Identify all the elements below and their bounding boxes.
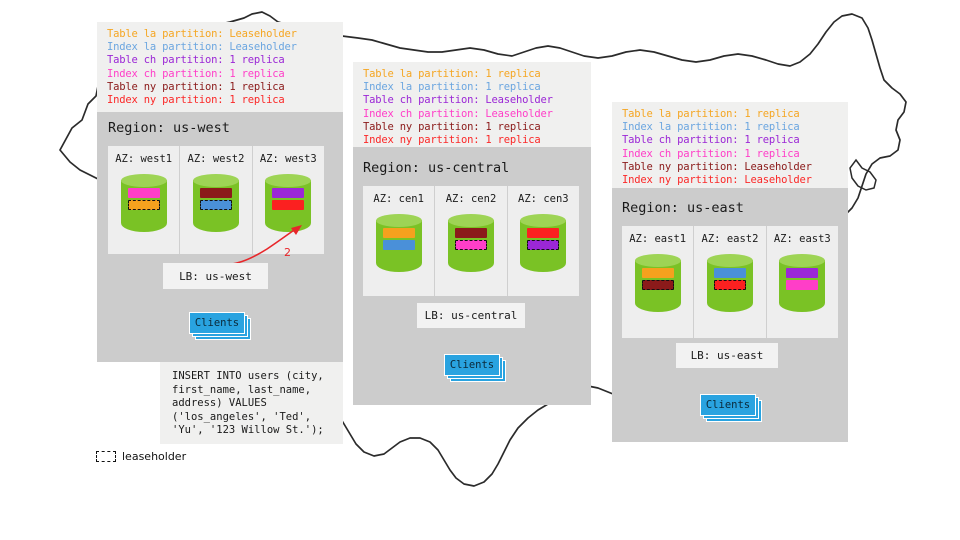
sql-line: ('los_angeles', 'Ted', <box>172 411 331 425</box>
replica-band <box>200 188 232 198</box>
clients-button-us-east[interactable]: Clients <box>700 394 756 416</box>
database-cylinder[interactable] <box>448 214 494 276</box>
az-cell-east3[interactable]: AZ: east3 <box>767 226 838 338</box>
load-balancer-us-east[interactable]: LB: us-east <box>676 343 778 368</box>
database-cylinder[interactable] <box>376 214 422 276</box>
az-label: AZ: cen1 <box>373 193 424 205</box>
az-label: AZ: east2 <box>702 233 759 245</box>
load-balancer-us-west[interactable]: LB: us-west <box>163 263 268 289</box>
legend-label: leaseholder <box>122 450 186 463</box>
header-line: Table ch partition: 1 replica <box>107 54 333 67</box>
replica-band <box>527 228 559 238</box>
cylinder-top <box>121 174 167 187</box>
header-line: Table ch partition: 1 replica <box>622 134 838 147</box>
sql-insert-note: INSERT INTO users (city, first_name, las… <box>160 362 343 444</box>
replica-band <box>128 200 160 210</box>
database-cylinder[interactable] <box>779 254 825 316</box>
header-line: Index ny partition: 1 replica <box>107 94 333 107</box>
replica-band <box>642 280 674 290</box>
replica-band <box>714 280 746 290</box>
legend: leaseholder <box>96 450 186 463</box>
sql-line: first_name, last_name, <box>172 384 331 398</box>
replica-band <box>383 240 415 250</box>
clients-label: Clients <box>444 354 500 376</box>
replica-bands <box>448 228 494 250</box>
cylinder-top <box>520 214 566 227</box>
replica-bands <box>193 188 239 210</box>
az-row-us-central: AZ: cen1 AZ: cen2 AZ: ce <box>363 186 579 296</box>
header-line: Index ny partition: Leaseholder <box>622 174 838 187</box>
cylinder-top <box>635 254 681 267</box>
cylinder-top <box>707 254 753 267</box>
az-label: AZ: west3 <box>260 153 317 165</box>
az-label: AZ: cen2 <box>446 193 497 205</box>
az-label: AZ: east1 <box>629 233 686 245</box>
replica-bands <box>779 268 825 290</box>
header-line: Table ny partition: Leaseholder <box>622 161 838 174</box>
az-cell-east1[interactable]: AZ: east1 <box>622 226 694 338</box>
replica-band <box>642 268 674 278</box>
replica-bands <box>707 268 753 290</box>
replica-bands <box>520 228 566 250</box>
header-line: Index la partition: 1 replica <box>363 81 581 94</box>
clients-label: Clients <box>189 312 245 334</box>
replica-band <box>714 268 746 278</box>
header-line: Index ny partition: 1 replica <box>363 134 581 147</box>
az-cell-cen1[interactable]: AZ: cen1 <box>363 186 435 296</box>
az-cell-cen3[interactable]: AZ: cen3 <box>508 186 579 296</box>
cylinder-top <box>265 174 311 187</box>
az-label: AZ: east3 <box>774 233 831 245</box>
az-label: AZ: west2 <box>188 153 245 165</box>
region-title-us-east: Region: us-east <box>622 200 744 216</box>
header-line: Table ch partition: Leaseholder <box>363 94 581 107</box>
az-label: AZ: west1 <box>115 153 172 165</box>
database-cylinder[interactable] <box>635 254 681 316</box>
replica-band <box>786 268 818 278</box>
replica-band <box>455 240 487 250</box>
header-line: Index la partition: 1 replica <box>622 121 838 134</box>
az-cell-east2[interactable]: AZ: east2 <box>694 226 766 338</box>
cylinder-top <box>448 214 494 227</box>
sql-line: address) VALUES <box>172 397 331 411</box>
replica-band <box>383 228 415 238</box>
az-cell-west1[interactable]: AZ: west1 <box>108 146 180 254</box>
replica-band <box>128 188 160 198</box>
header-line: Table la partition: Leaseholder <box>107 28 333 41</box>
header-line: Index ch partition: Leaseholder <box>363 108 581 121</box>
sql-line: 'Yu', '123 Willow St.'); <box>172 424 331 438</box>
cylinder-top <box>376 214 422 227</box>
header-line: Table la partition: 1 replica <box>363 68 581 81</box>
region-header-us-central: Table la partition: 1 replica Index la p… <box>353 62 591 147</box>
load-balancer-us-central[interactable]: LB: us-central <box>417 303 525 328</box>
replica-band <box>527 240 559 250</box>
region-header-us-east: Table la partition: 1 replica Index la p… <box>612 102 848 188</box>
header-line: Index ch partition: 1 replica <box>622 148 838 161</box>
replica-band <box>200 200 232 210</box>
header-line: Index ch partition: 1 replica <box>107 68 333 81</box>
diagram-canvas: Table la partition: Leaseholder Index la… <box>0 0 960 540</box>
clients-button-us-west[interactable]: Clients <box>189 312 245 334</box>
region-title-us-central: Region: us-central <box>363 160 509 176</box>
az-label: AZ: cen3 <box>518 193 569 205</box>
replica-bands <box>376 228 422 250</box>
header-line: Index la partition: Leaseholder <box>107 41 333 54</box>
replica-bands <box>635 268 681 290</box>
az-row-us-east: AZ: east1 AZ: east2 AZ: <box>622 226 838 338</box>
cylinder-top <box>193 174 239 187</box>
header-line: Table ny partition: 1 replica <box>363 121 581 134</box>
sql-line: INSERT INTO users (city, <box>172 370 331 384</box>
replica-band <box>786 280 818 290</box>
region-title-us-west: Region: us-west <box>108 120 230 136</box>
header-line: Table ny partition: 1 replica <box>107 81 333 94</box>
replica-band <box>272 188 304 198</box>
clients-label: Clients <box>700 394 756 416</box>
replica-bands <box>121 188 167 210</box>
header-line: Table la partition: 1 replica <box>622 108 838 121</box>
replica-band <box>272 200 304 210</box>
database-cylinder[interactable] <box>121 174 167 236</box>
clients-button-us-central[interactable]: Clients <box>444 354 500 376</box>
replica-bands <box>265 188 311 210</box>
replica-band <box>455 228 487 238</box>
annotation-label-2: 2 <box>284 246 291 259</box>
database-cylinder[interactable] <box>707 254 753 316</box>
dashed-rectangle-icon <box>96 451 116 462</box>
database-cylinder[interactable] <box>520 214 566 276</box>
cylinder-top <box>779 254 825 267</box>
region-header-us-west: Table la partition: Leaseholder Index la… <box>97 22 343 112</box>
az-cell-cen2[interactable]: AZ: cen2 <box>435 186 507 296</box>
